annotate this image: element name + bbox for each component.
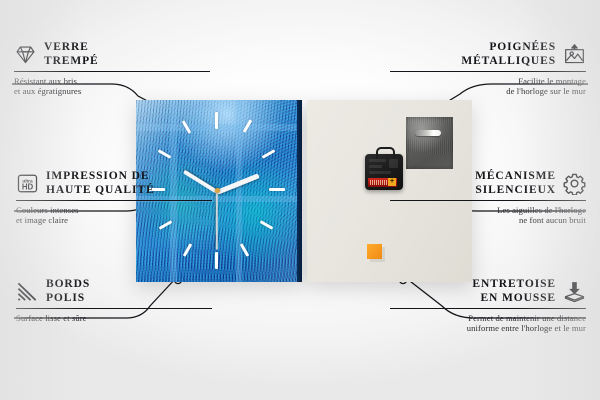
feature-divider [390, 308, 586, 309]
picture-frame-hanger-icon [563, 43, 586, 66]
feature-bords-polis[interactable]: BORDS POLIS Surface lisse et sûre [16, 278, 212, 323]
feature-subtitle: Les aiguilles de l'horloge ne font aucun… [390, 205, 586, 226]
feature-divider [16, 308, 212, 309]
foam-spacer [367, 244, 382, 259]
feature-subtitle: Facilite le montage de l'horloge sur le … [390, 76, 586, 97]
feature-verre-trempe[interactable]: VERRE TREMPÉ Résistant aux bris et aux é… [14, 41, 210, 97]
feature-divider [16, 200, 212, 201]
feature-title: IMPRESSION DE HAUTE QUALITÉ [46, 170, 155, 197]
feature-header: VERRE TREMPÉ [14, 41, 210, 68]
feature-header: BORDS POLIS [16, 278, 212, 305]
clock-face-edge [297, 100, 302, 282]
hanger-slot [415, 130, 441, 136]
feature-title: ENTRETOISE EN MOUSSE [472, 278, 556, 305]
feature-title: MÉCANISME SILENCIEUX [475, 170, 556, 197]
feature-subtitle: Surface lisse et sûre [16, 313, 212, 323]
feature-mecanisme-silencieux[interactable]: MÉCANISME SILENCIEUX Les aiguilles de l'… [390, 170, 586, 226]
second-hand [216, 192, 218, 250]
clock-center-pin [215, 188, 220, 193]
feature-divider [390, 200, 586, 201]
infographic-canvas: + VERRE TREMPÉ Résistant aux bris et aux… [0, 0, 600, 400]
polished-edges-icon [16, 280, 39, 303]
feature-subtitle: Couleurs intenses et image claire [16, 205, 212, 226]
diamond-icon [14, 43, 37, 66]
feature-divider [390, 71, 586, 72]
gear-icon [563, 172, 586, 195]
feature-header: POIGNÉES MÉTALLIQUES [390, 41, 586, 68]
feature-title: POIGNÉES MÉTALLIQUES [461, 41, 556, 68]
feature-entretoise-en-mousse[interactable]: ENTRETOISE EN MOUSSE Permet de maintenir… [390, 278, 586, 334]
feature-header: ultra HD IMPRESSION DE HAUTE QUALITÉ [16, 170, 212, 197]
mechanism-hanging-loop [376, 147, 395, 159]
metal-hanger-plate [406, 117, 453, 169]
feature-impression-haute-qualite[interactable]: ultra HD IMPRESSION DE HAUTE QUALITÉ Cou… [16, 170, 212, 226]
feature-header: ENTRETOISE EN MOUSSE [390, 278, 586, 305]
feature-title: BORDS POLIS [46, 278, 90, 305]
feature-subtitle: Permet de maintenir une distance uniform… [390, 313, 586, 334]
ultra-hd-icon: ultra HD [16, 172, 39, 195]
feature-poignees-metalliques[interactable]: POIGNÉES MÉTALLIQUES Facilite le montage… [390, 41, 586, 97]
svg-text:HD: HD [22, 183, 34, 192]
feature-subtitle: Résistant aux bris et aux égratignures [14, 76, 210, 97]
foam-spacer-arrow-icon [563, 280, 586, 303]
feature-divider [14, 71, 210, 72]
feature-header: MÉCANISME SILENCIEUX [390, 170, 586, 197]
feature-title: VERRE TREMPÉ [44, 41, 99, 68]
